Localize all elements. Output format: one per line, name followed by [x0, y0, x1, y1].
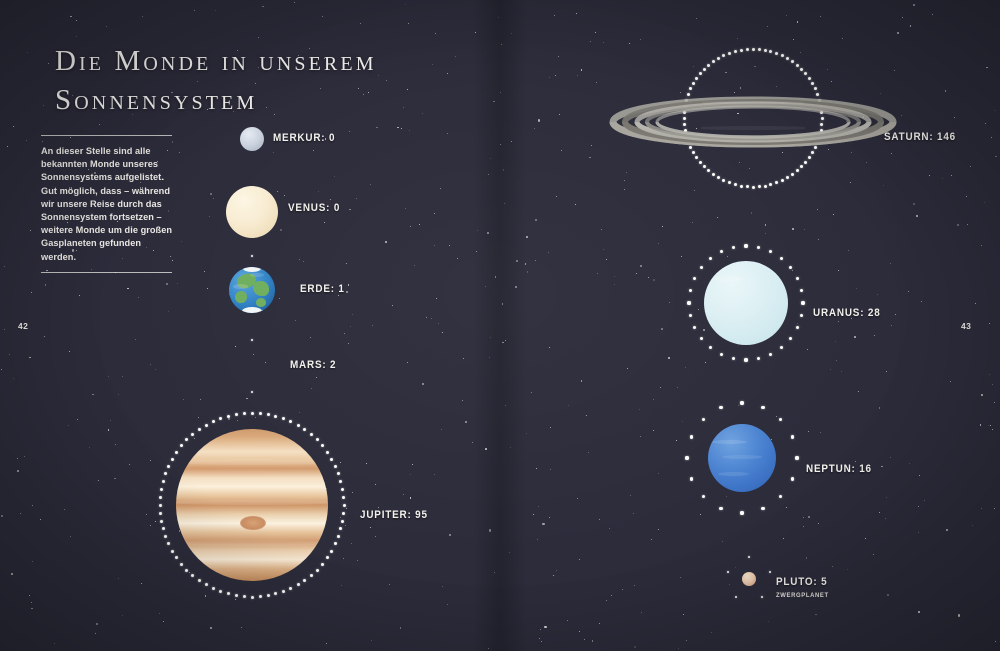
- book-spread: Die Monde in unserem Sonnensystem An die…: [0, 0, 1000, 651]
- planet-pluto: PLUTO: 5ZWERGPLANET: [0, 0, 1000, 651]
- moon-dot: [748, 556, 750, 558]
- planet-label-pluto: PLUTO: 5: [776, 576, 827, 588]
- planet-disc-pluto: [742, 572, 756, 586]
- moon-dot: [727, 571, 729, 573]
- moon-dot: [735, 596, 737, 598]
- moon-dot: [761, 596, 763, 598]
- planet-sublabel-pluto: ZWERGPLANET: [776, 592, 829, 599]
- moon-dot: [769, 571, 771, 573]
